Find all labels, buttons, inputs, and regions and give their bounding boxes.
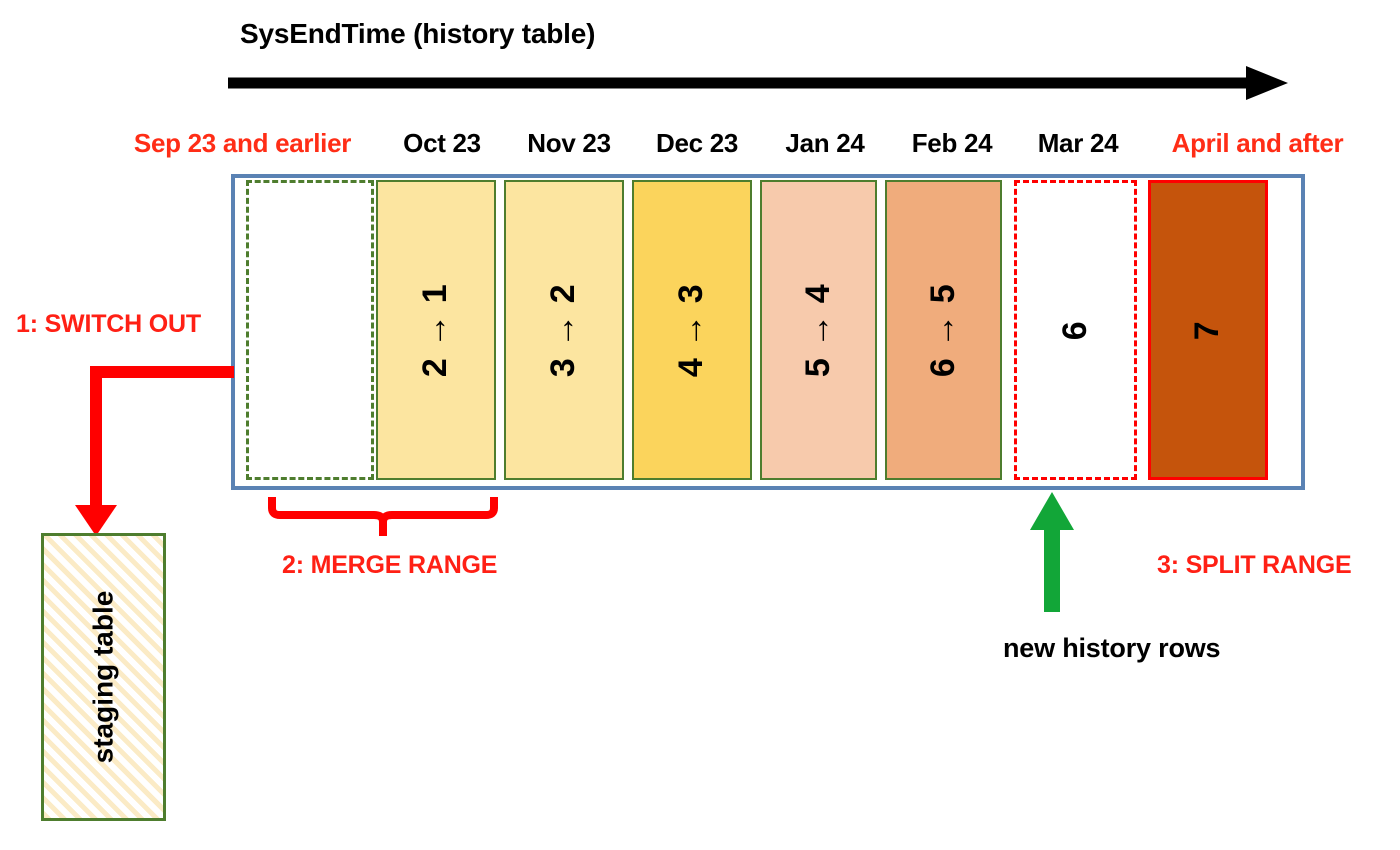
callout-merge-range: 2: MERGE RANGE xyxy=(282,551,497,580)
partition-box-6[interactable]: 6 xyxy=(1014,180,1137,480)
partition-label: 6 xyxy=(1056,320,1095,339)
column-header-row: Sep 23 and earlier Oct 23 Nov 23 Dec 23 … xyxy=(0,128,1400,168)
partition-label: 2 → 1 xyxy=(417,283,456,376)
partition-box-2-to-1[interactable]: 2 → 1 xyxy=(376,180,496,480)
partition-box-5-to-4[interactable]: 5 → 4 xyxy=(760,180,877,480)
partition-box-6-to-5[interactable]: 6 → 5 xyxy=(885,180,1002,480)
column-label-dec23: Dec 23 xyxy=(633,128,761,159)
merge-range-brace-icon xyxy=(272,497,494,536)
diagram-canvas: SysEndTime (history table) Sep 23 and ea… xyxy=(0,0,1400,850)
column-label-jan24: Jan 24 xyxy=(761,128,889,159)
new-history-rows-arrow-icon xyxy=(1030,492,1074,612)
partition-box-7[interactable]: 7 xyxy=(1148,180,1268,480)
partition-label: 4 → 3 xyxy=(673,283,712,376)
partition-label: 6 → 5 xyxy=(924,283,963,376)
partition-label: 5 → 4 xyxy=(799,283,838,376)
staging-table-label: staging table xyxy=(88,591,120,764)
column-label-nov23: Nov 23 xyxy=(505,128,633,159)
partition-box-3-to-2[interactable]: 3 → 2 xyxy=(504,180,624,480)
partition-label: 7 xyxy=(1188,320,1227,339)
column-label-mar24: Mar 24 xyxy=(1014,128,1142,159)
staging-table-box[interactable]: staging table xyxy=(41,533,166,821)
switch-out-arrow-icon xyxy=(75,372,234,536)
sysendtime-timeline-arrow xyxy=(228,60,1288,106)
column-label-april: April and after xyxy=(1140,128,1375,159)
callout-split-range: 3: SPLIT RANGE xyxy=(1157,551,1351,580)
partition-box-4-to-3[interactable]: 4 → 3 xyxy=(632,180,752,480)
column-label-sep23: Sep 23 and earlier xyxy=(105,128,380,159)
page-title: SysEndTime (history table) xyxy=(240,18,595,50)
partition-box-empty[interactable] xyxy=(246,180,374,480)
column-label-feb24: Feb 24 xyxy=(888,128,1016,159)
partition-label: 3 → 2 xyxy=(545,283,584,376)
callout-switch-out: 1: SWITCH OUT xyxy=(16,310,201,339)
column-label-oct23: Oct 23 xyxy=(378,128,506,159)
label-new-history-rows: new history rows xyxy=(1003,633,1220,664)
